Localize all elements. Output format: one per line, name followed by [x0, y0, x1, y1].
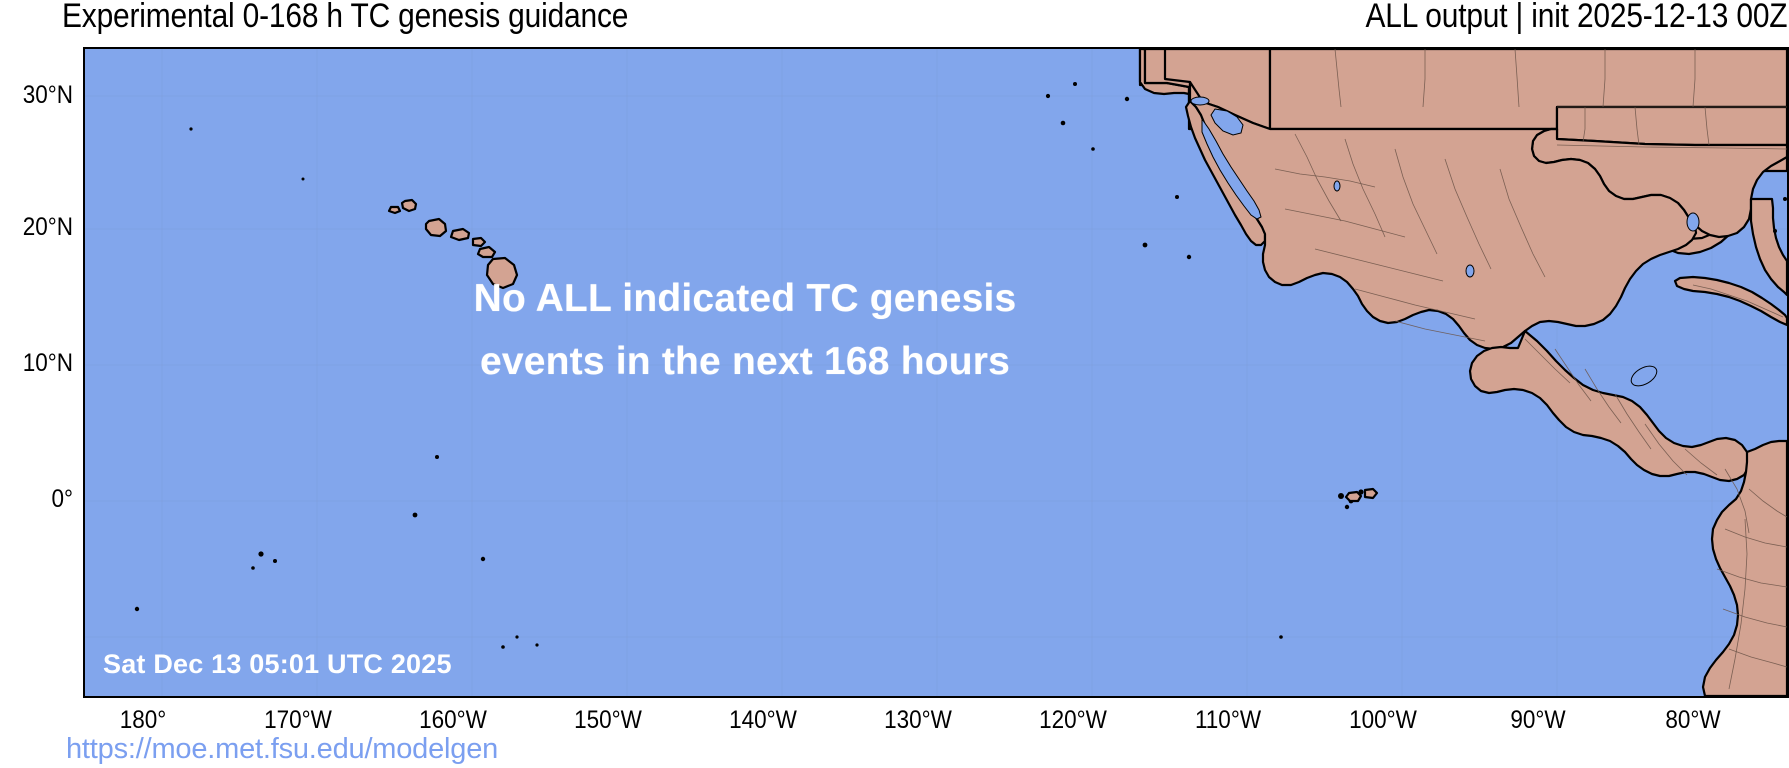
init-info-label: ALL output | init 2025-12-13 00Z: [1365, 0, 1787, 36]
x-tick-120w: 120°W: [1039, 706, 1107, 735]
x-tick-110w: 110°W: [1195, 706, 1261, 735]
y-tick-20n: 20°N: [0, 213, 73, 242]
x-tick-160w: 160°W: [419, 706, 487, 735]
y-tick-0: 0°: [0, 485, 73, 514]
x-tick-170w: 170°W: [264, 706, 332, 735]
page-title: Experimental 0-168 h TC genesis guidance: [62, 0, 628, 36]
header-bar: Experimental 0-168 h TC genesis guidance…: [0, 0, 1789, 46]
source-url-link[interactable]: https://moe.met.fsu.edu/modelgen: [66, 733, 498, 766]
hawaiian-islands: [389, 200, 517, 288]
y-tick-30n: 30°N: [0, 81, 73, 110]
x-tick-150w: 150°W: [574, 706, 642, 735]
x-tick-180: 180°: [120, 706, 167, 735]
y-tick-10n: 10°N: [0, 349, 73, 378]
x-tick-140w: 140°W: [729, 706, 797, 735]
map-canvas: [85, 49, 1787, 696]
geography: [1165, 49, 1787, 696]
x-tick-80w: 80°W: [1665, 706, 1720, 735]
x-tick-100w: 100°W: [1349, 706, 1417, 735]
x-tick-90w: 90°W: [1510, 706, 1565, 735]
genesis-map[interactable]: No ALL indicated TC genesis events in th…: [83, 47, 1789, 698]
timestamp-label: Sat Dec 13 05:01 UTC 2025: [103, 649, 452, 680]
x-tick-130w: 130°W: [884, 706, 952, 735]
